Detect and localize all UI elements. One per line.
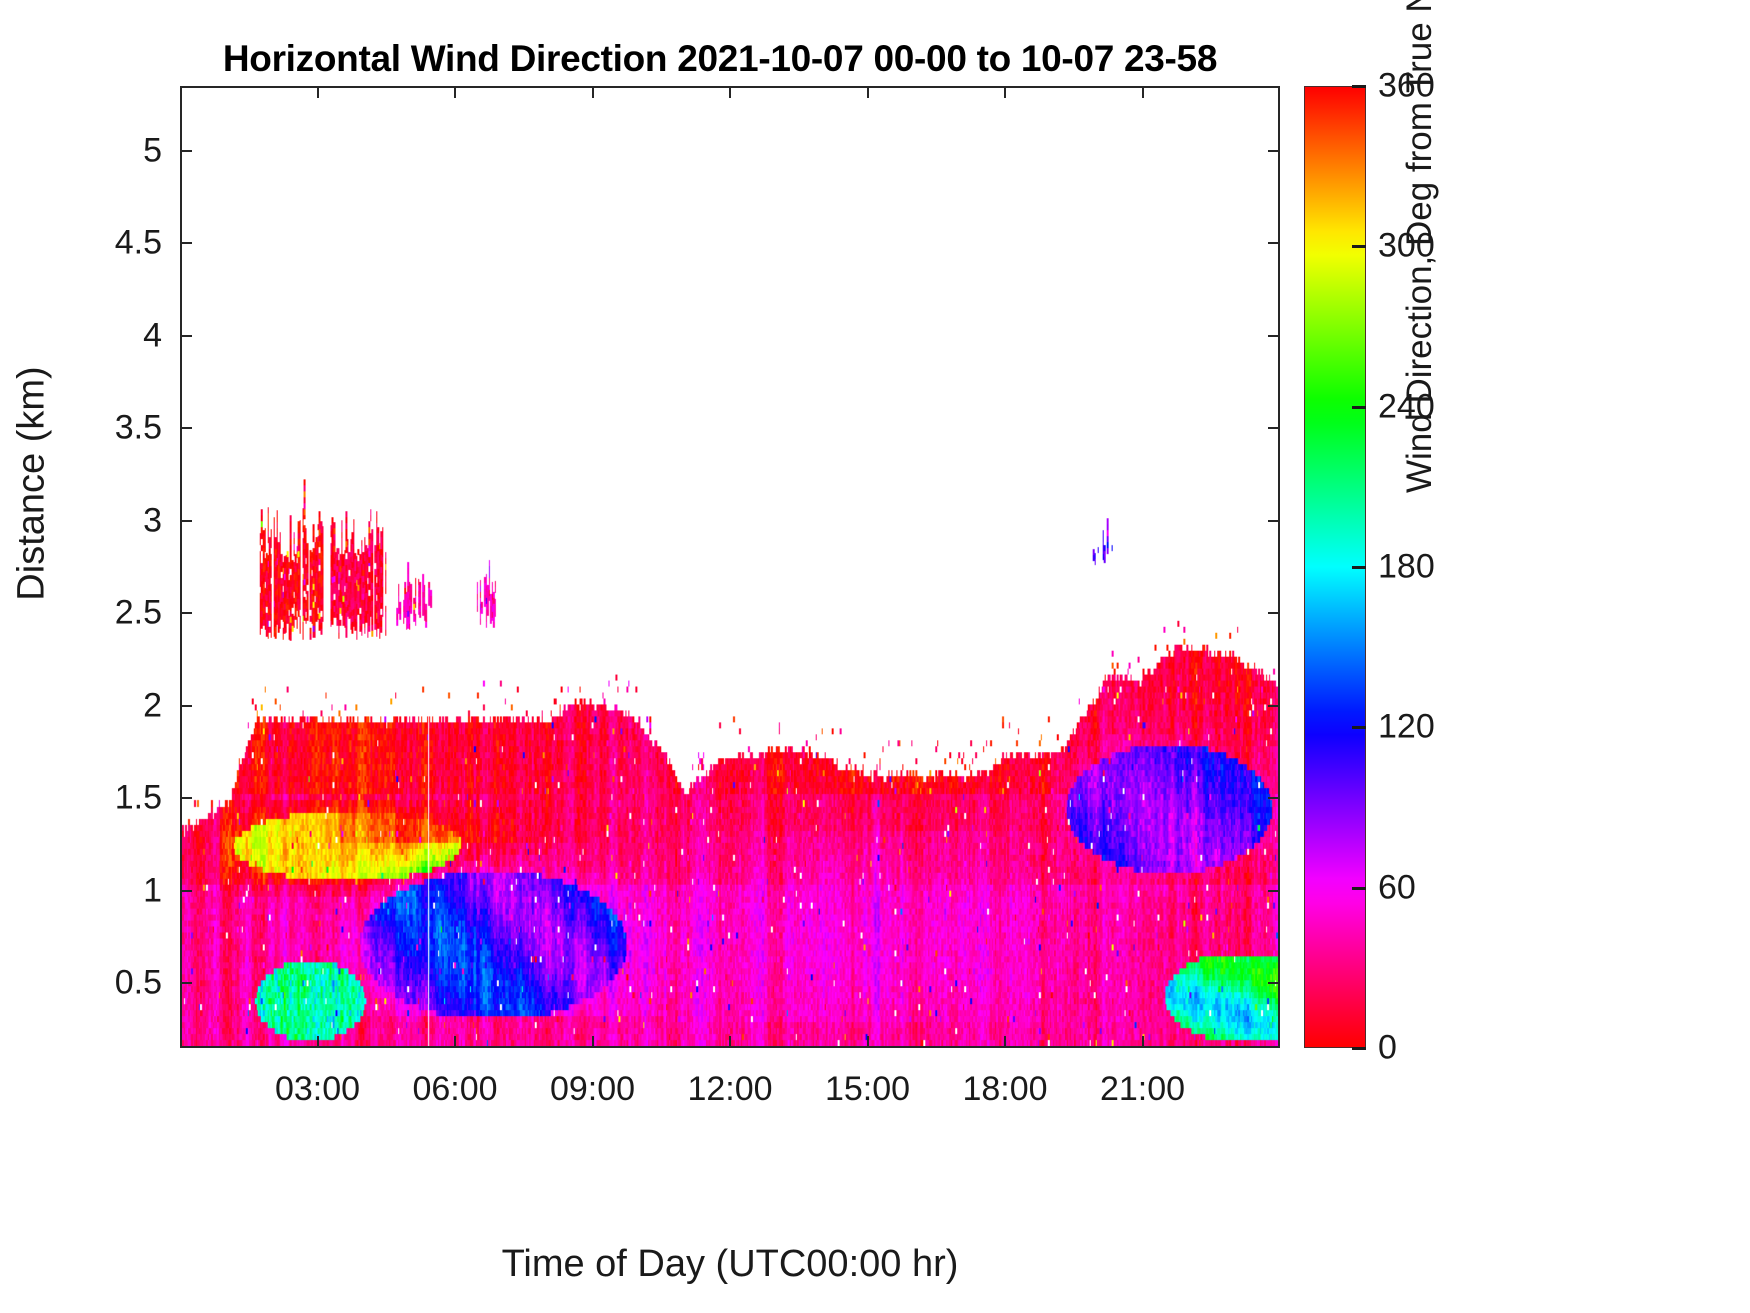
x-tick-mark [1142,1036,1144,1048]
y-tick-mark [180,520,192,522]
colorbar-tick-mark [1352,245,1366,248]
x-tick-label: 09:00 [550,1070,635,1109]
colorbar-tick-mark [1352,85,1366,88]
x-tick-label: 12:00 [687,1070,772,1109]
x-tick-mark [317,1036,319,1048]
y-tick-label: 2 [72,686,162,725]
y-tick-mark-right [1268,242,1280,244]
y-tick-label: 1 [72,871,162,910]
colorbar-tick-mark [1352,1047,1366,1050]
wind-direction-figure: Horizontal Wind Direction 2021-10-07 00-… [0,0,1750,1313]
colorbar-tick-label: 0 [1378,1029,1397,1068]
y-tick-mark [180,612,192,614]
x-tick-label: 03:00 [275,1070,360,1109]
y-tick-mark-right [1268,705,1280,707]
colorbar-tick-mark [1352,406,1366,409]
x-tick-mark [1004,1036,1006,1048]
y-tick-mark-right [1268,982,1280,984]
y-tick-mark-right [1268,797,1280,799]
colorbar-tick-mark [1352,887,1366,890]
x-tick-label: 21:00 [1100,1070,1185,1109]
y-tick-mark-right [1268,427,1280,429]
x-tick-mark [867,1036,869,1048]
y-tick-label: 5 [72,131,162,170]
y-tick-mark-right [1268,150,1280,152]
x-tick-mark-top [729,86,731,98]
x-tick-mark-top [454,86,456,98]
x-tick-label: 06:00 [412,1070,497,1109]
y-tick-mark-right [1268,890,1280,892]
y-tick-label: 3.5 [72,409,162,448]
y-tick-label: 3 [72,501,162,540]
x-tick-mark-top [317,86,319,98]
y-tick-mark-right [1268,520,1280,522]
x-tick-mark-top [1004,86,1006,98]
x-tick-mark [592,1036,594,1048]
x-tick-mark-top [867,86,869,98]
colorbar-tick-mark [1352,566,1366,569]
x-tick-mark-top [592,86,594,98]
x-tick-mark-top [1142,86,1144,98]
y-tick-mark [180,150,192,152]
y-tick-label: 4.5 [72,224,162,263]
y-tick-label: 2.5 [72,594,162,633]
y-tick-mark [180,890,192,892]
colorbar-tick-label: 120 [1378,708,1435,747]
colorbar-title: Wind Direction, Deg from True North [1400,0,1440,560]
y-tick-label: 0.5 [72,964,162,1003]
x-tick-mark [454,1036,456,1048]
y-tick-mark-right [1268,612,1280,614]
y-axis-title: Distance (km) [11,224,54,744]
heatmap-canvas [182,88,1278,1046]
y-tick-mark [180,705,192,707]
plot-area [180,86,1280,1048]
x-tick-label: 18:00 [962,1070,1047,1109]
y-tick-mark [180,982,192,984]
y-tick-mark [180,797,192,799]
page-title: Horizontal Wind Direction 2021-10-07 00-… [0,38,1440,80]
colorbar-tick-label: 60 [1378,868,1416,907]
y-tick-mark [180,427,192,429]
x-tick-mark [729,1036,731,1048]
y-tick-label: 4 [72,316,162,355]
x-tick-label: 15:00 [825,1070,910,1109]
y-tick-mark [180,335,192,337]
y-tick-label: 1.5 [72,779,162,818]
y-tick-mark-right [1268,335,1280,337]
colorbar-tick-mark [1352,726,1366,729]
y-tick-mark [180,242,192,244]
x-axis-title: Time of Day (UTC00:00 hr) [180,1243,1280,1286]
